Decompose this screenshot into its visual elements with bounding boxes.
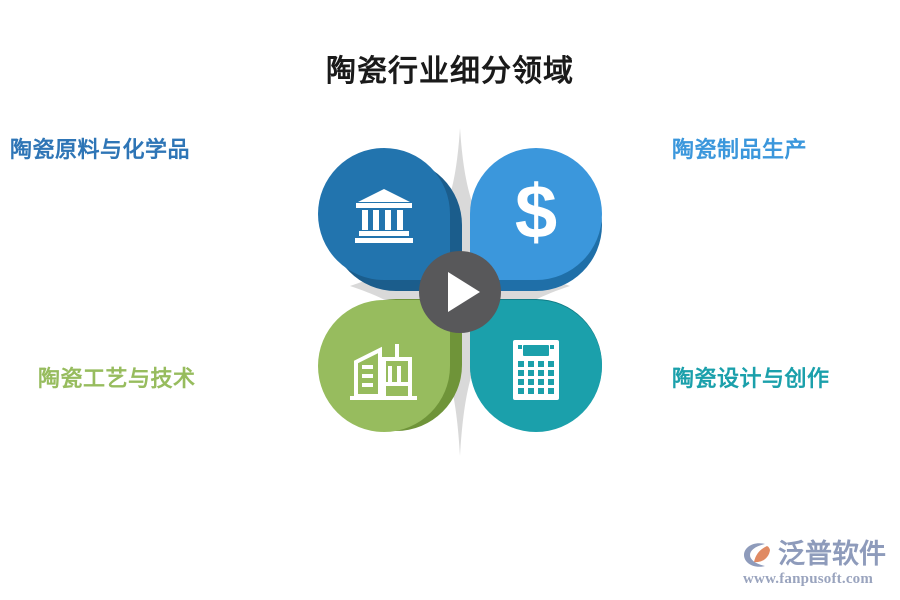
logo-row: 泛普软件 bbox=[741, 540, 886, 570]
label-top-right: 陶瓷制品生产 bbox=[672, 132, 807, 164]
infographic-page: 陶瓷行业细分领域 bbox=[0, 0, 900, 600]
page-title: 陶瓷行业细分领域 bbox=[0, 46, 900, 90]
petal-top-left-shape bbox=[318, 148, 450, 280]
label-bottom-right: 陶瓷设计与创作 bbox=[672, 361, 830, 393]
calculator-icon bbox=[513, 340, 559, 400]
logo-text: 泛普软件 bbox=[778, 540, 886, 570]
logo-url: www.fanpusoft.com bbox=[743, 571, 873, 588]
brand-logo: 泛普软件 www.fanpusoft.com bbox=[741, 540, 886, 588]
four-petal-diagram: $ bbox=[270, 108, 650, 476]
svg-text:$: $ bbox=[515, 170, 557, 255]
label-top-left: 陶瓷原料与化学品 bbox=[10, 132, 190, 164]
label-bottom-left: 陶瓷工艺与技术 bbox=[38, 361, 196, 393]
play-button[interactable] bbox=[419, 251, 501, 333]
fanpu-logo-mark bbox=[741, 540, 775, 570]
dollar-sign-icon: $ bbox=[515, 170, 557, 255]
